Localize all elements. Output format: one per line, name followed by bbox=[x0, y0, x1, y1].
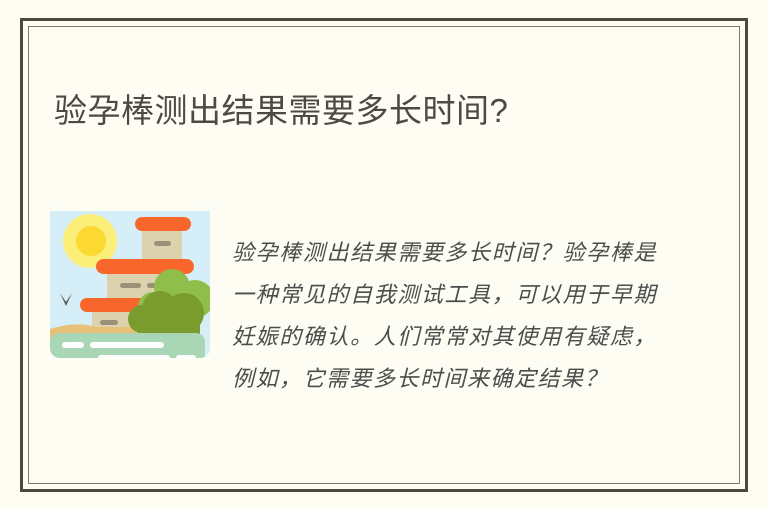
pagoda-riverside-scene-icon bbox=[50, 203, 210, 358]
article-body-text: 验孕棒测出结果需要多长时间？验孕棒是一种常见的自我测试工具，可以用于早期妊娠的确… bbox=[232, 233, 657, 401]
article-illustration bbox=[50, 203, 210, 358]
page-title: 验孕棒测出结果需要多长时间? bbox=[54, 88, 508, 134]
article-card-page: 验孕棒测出结果需要多长时间? bbox=[0, 0, 768, 510]
article-content-row: 验孕棒测出结果需要多长时间？验孕棒是一种常见的自我测试工具，可以用于早期妊娠的确… bbox=[50, 203, 710, 443]
